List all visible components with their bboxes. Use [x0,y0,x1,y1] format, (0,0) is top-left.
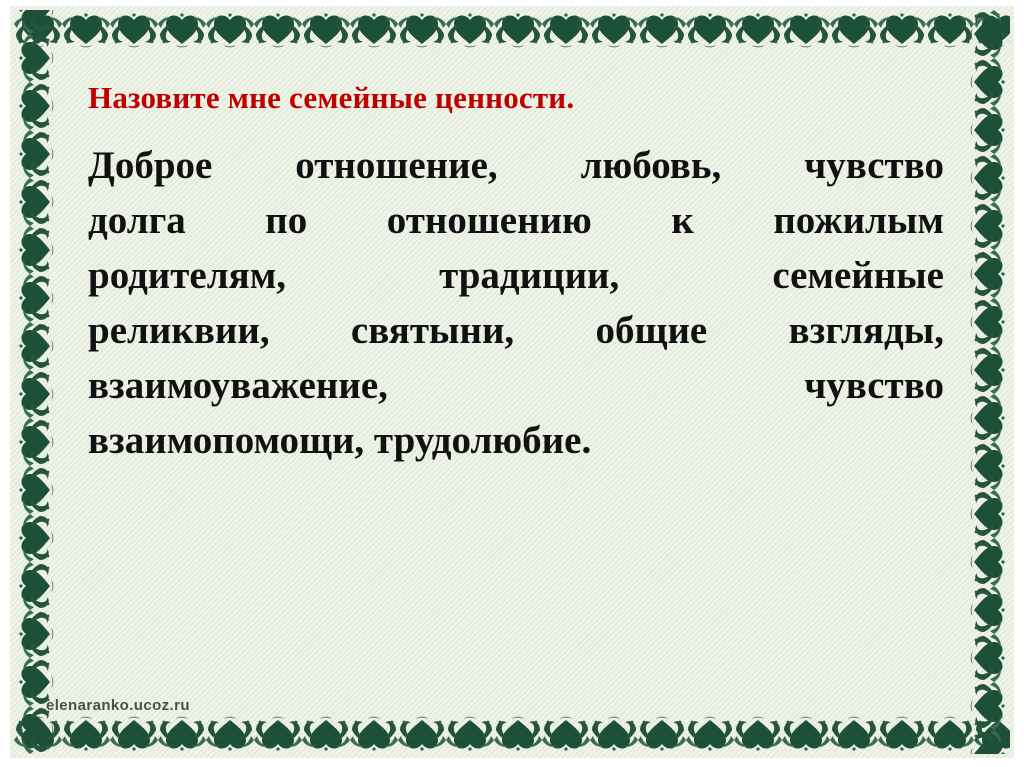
body-word: семейные [772,248,944,303]
body-line: реликвии, святыни, общие взгляды, [88,303,944,358]
body-word: чувство [804,138,944,193]
body-word: взаимоуважение, [88,358,388,413]
body-word: традиции, [439,248,619,303]
slide-content: Назовите мне семейные ценности. Доброе о… [88,78,944,638]
slide-title: Назовите мне семейные ценности. [88,78,944,118]
body-line: родителям, традиции, семейные [88,248,944,303]
body-line: взаимоуважение, чувство [88,358,944,413]
body-word: отношению [387,193,592,248]
body-word: родителям, [88,248,286,303]
body-word: пожилым [773,193,944,248]
body-word: любовь, [581,138,722,193]
body-word: взгляды, [789,303,944,358]
body-word: отношение, [295,138,497,193]
body-word: взаимопомощи, трудолюбие. [88,413,591,468]
body-word: к [671,193,693,248]
body-word: долга [88,193,186,248]
body-word: святыни, [351,303,514,358]
body-word: чувство [804,358,944,413]
slide-root: Назовите мне семейные ценности. Доброе о… [0,0,1024,767]
body-line: Доброе отношение, любовь, чувство [88,138,944,193]
body-word: по [265,193,307,248]
body-word: Доброе [88,138,212,193]
body-line: взаимопомощи, трудолюбие. [88,413,944,468]
body-line: долга по отношению к пожилым [88,193,944,248]
slide-body-text: Доброе отношение, любовь, чувство долга … [88,138,944,468]
body-word: реликвии, [88,303,270,358]
watermark-label: elenaranko.ucoz.ru [46,697,190,714]
body-word: общие [596,303,708,358]
